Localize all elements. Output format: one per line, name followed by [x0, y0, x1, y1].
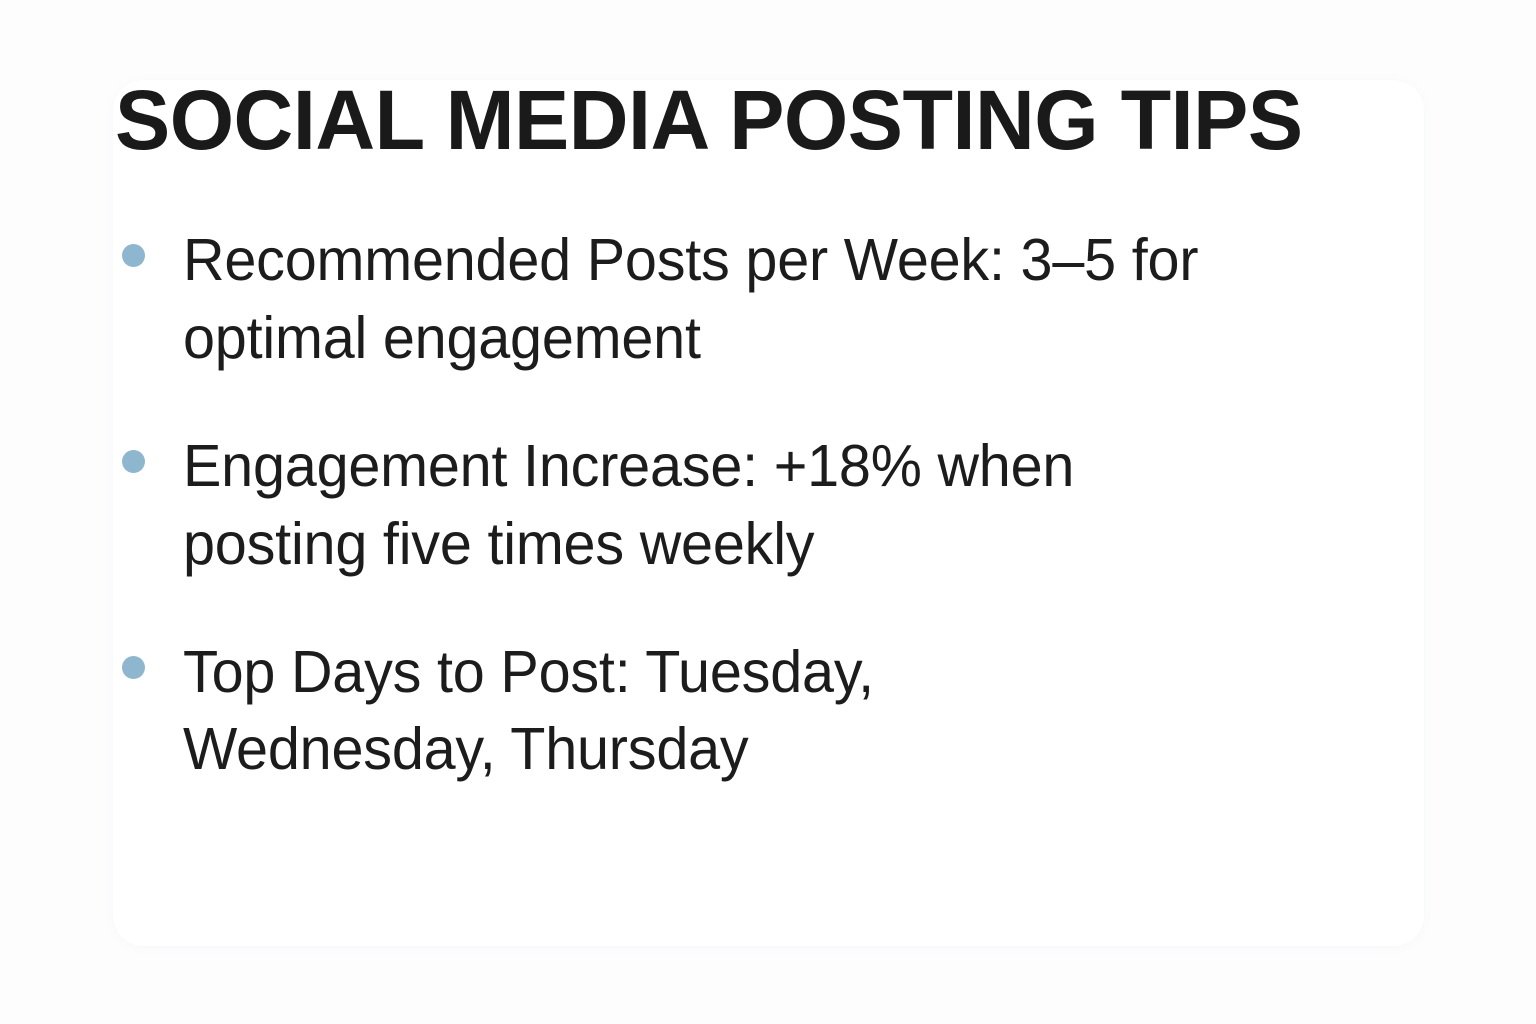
list-item-label: Top Days to Post: Tuesday, Wednesday, Th…: [183, 634, 1199, 790]
tips-list: Recommended Posts per Week: 3–5 for opti…: [115, 222, 1225, 789]
list-item: Top Days to Post: Tuesday, Wednesday, Th…: [115, 634, 1225, 790]
page-title: SOCIAL MEDIA POSTING TIPS: [115, 78, 1189, 162]
list-item: Recommended Posts per Week: 3–5 for opti…: [115, 222, 1225, 378]
bullet-dot-icon: [122, 244, 145, 267]
bullet-dot-icon: [122, 656, 145, 679]
list-item-label: Engagement Increase: +18% when posting f…: [183, 428, 1199, 584]
list-item-label: Recommended Posts per Week: 3–5 for opti…: [183, 222, 1199, 378]
list-item: Engagement Increase: +18% when posting f…: [115, 428, 1225, 584]
bullet-dot-icon: [122, 450, 145, 473]
slide-canvas: SOCIAL MEDIA POSTING TIPS Recommended Po…: [0, 0, 1536, 1024]
